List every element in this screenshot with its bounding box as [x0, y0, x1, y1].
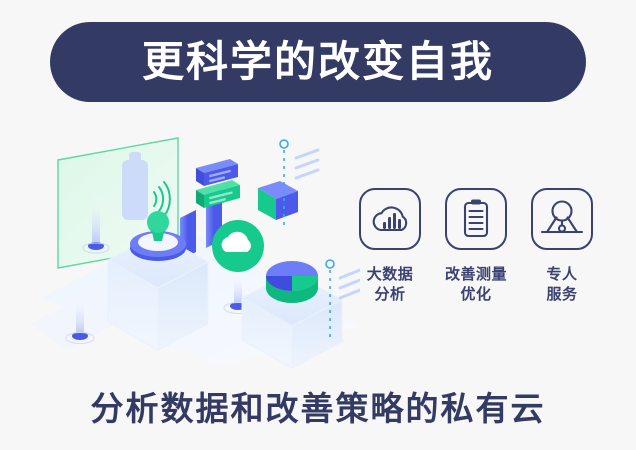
clipboard-icon	[445, 188, 507, 250]
cloud-bar-chart-icon	[359, 188, 421, 250]
feature-label-line1: 大数据	[367, 264, 414, 284]
feature-list: 大数据 分析 改善测量 优化	[352, 188, 600, 336]
feature-label-line1: 专人	[546, 264, 577, 284]
feature-label-line2: 服务	[546, 284, 577, 304]
tagline: 分析数据和改善策略的私有云	[0, 382, 636, 430]
feature-label-dedicated-service: 专人 服务	[546, 264, 577, 305]
page-title: 更科学的改变自我	[142, 41, 494, 83]
feature-label-measurement-optimization: 改善测量 优化	[445, 264, 507, 305]
feature-label-line2: 优化	[445, 284, 507, 304]
water-bottle-silhouette	[122, 152, 148, 220]
feature-label-line2: 分析	[367, 284, 414, 304]
hero-illustration	[30, 128, 360, 368]
pie-chart-3d	[266, 261, 318, 303]
title-banner: 更科学的改变自我	[50, 22, 586, 102]
poster-canvas: 更科学的改变自我	[0, 0, 636, 450]
feature-item-measurement-optimization[interactable]: 改善测量 优化	[438, 188, 514, 305]
cloud-badge	[212, 220, 264, 272]
feature-label-big-data-analysis: 大数据 分析	[367, 264, 414, 305]
feature-label-line1: 改善测量	[445, 264, 507, 284]
isometric-cube	[258, 181, 298, 220]
service-person-icon	[531, 188, 593, 250]
feature-item-dedicated-service[interactable]: 专人 服务	[524, 188, 600, 305]
feature-item-big-data-analysis[interactable]: 大数据 分析	[352, 188, 428, 305]
